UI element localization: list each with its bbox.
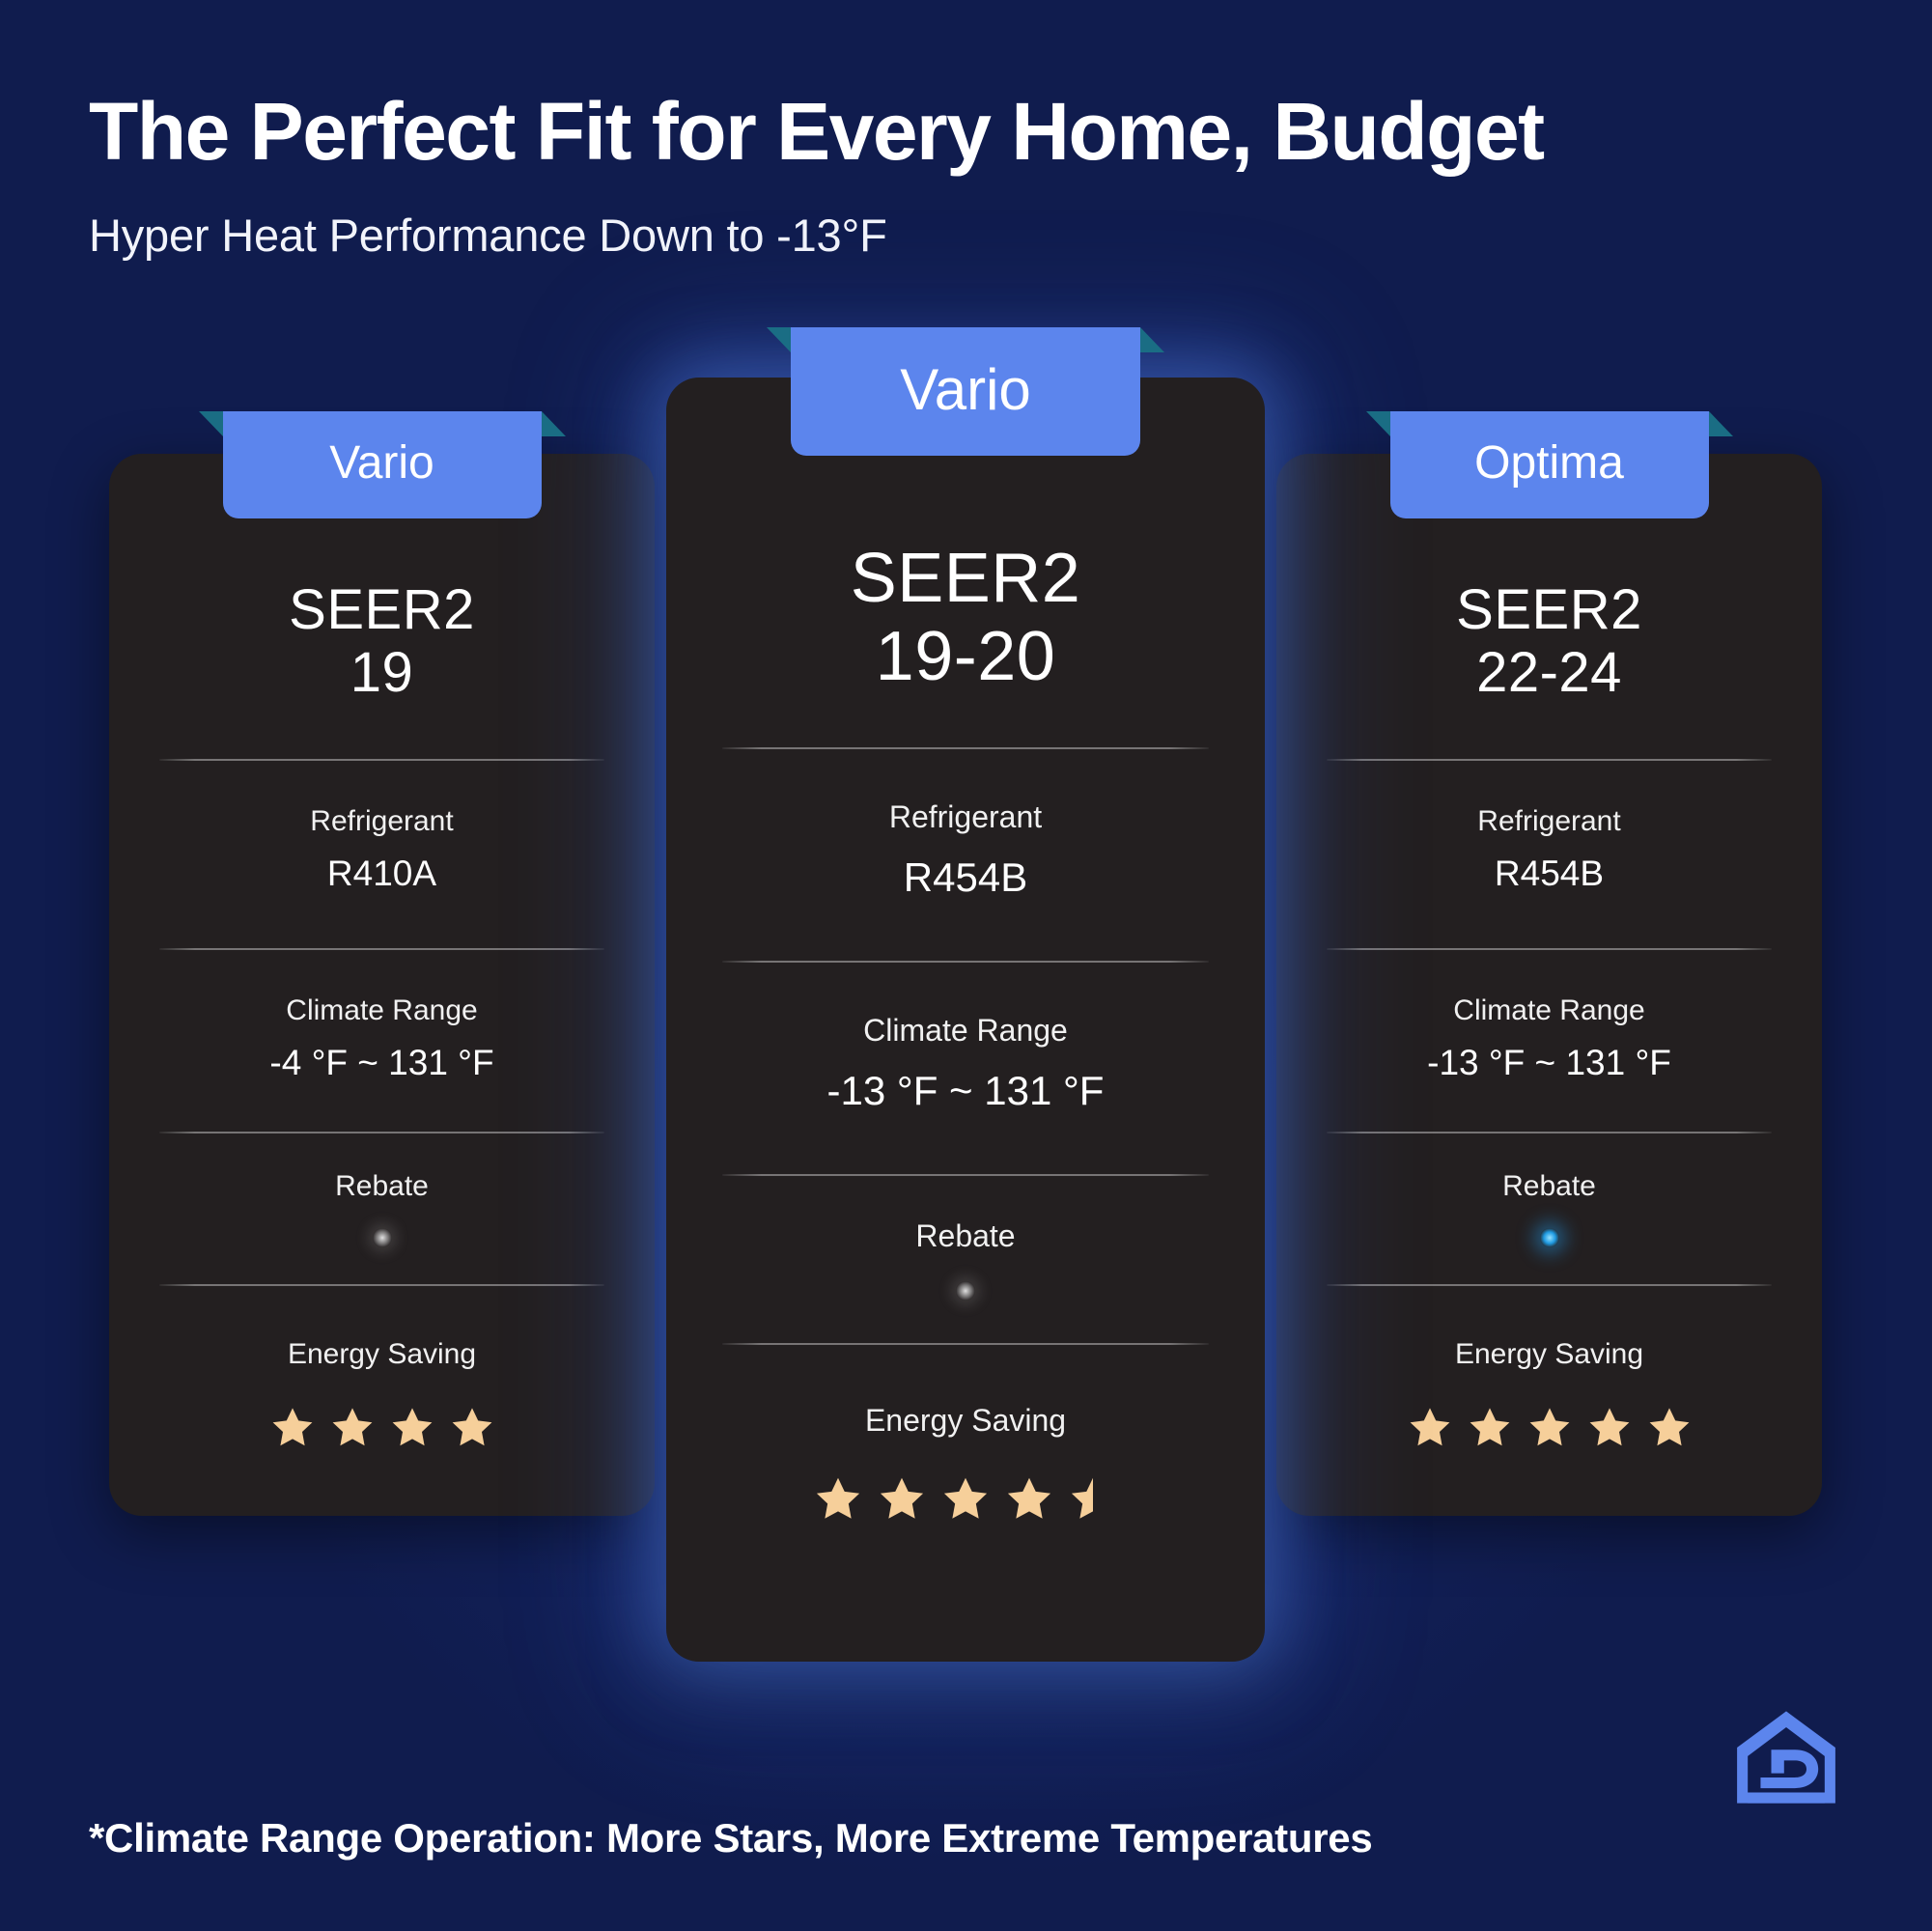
ribbon-text: Vario xyxy=(329,437,434,489)
page-title: The Perfect Fit for Every Home, Budget xyxy=(89,89,1846,174)
spec-label: Rebate xyxy=(159,1170,604,1203)
card-body: SEER2 22-24 Refrigerant R454B Climate Ra… xyxy=(1276,579,1822,1450)
ribbon-text: Vario xyxy=(900,357,1031,422)
star-icon xyxy=(329,1404,376,1450)
card-body: SEER2 19 Refrigerant R410A Climate Range… xyxy=(109,579,655,1450)
star-icon xyxy=(1004,1473,1054,1524)
spec-value: -13 °F ~ 131 °F xyxy=(722,1068,1209,1114)
star-icon xyxy=(877,1473,927,1524)
seer-value: 19-20 xyxy=(851,618,1081,696)
spec-energy-saving: Energy Saving xyxy=(1327,1338,1772,1450)
spec-label: Climate Range xyxy=(1327,994,1772,1027)
spec-value: R454B xyxy=(722,854,1209,901)
star-icon xyxy=(269,1404,316,1450)
page-header: The Perfect Fit for Every Home, Budget H… xyxy=(89,89,1846,262)
card-ribbon-label: Optima xyxy=(1390,411,1709,518)
energy-saving-stars xyxy=(1327,1404,1772,1450)
comparison-cards: Vario SEER2 19 Refrigerant R410A Climate… xyxy=(0,357,1932,1709)
ribbon-fold-right-icon xyxy=(542,411,566,436)
spec-rebate: Rebate xyxy=(722,1218,1209,1301)
spec-label: Refrigerant xyxy=(159,805,604,838)
spec-value: R410A xyxy=(159,854,604,894)
spec-value: -13 °F ~ 131 °F xyxy=(1327,1043,1772,1083)
star-icon xyxy=(449,1404,495,1450)
spec-refrigerant: Refrigerant R454B xyxy=(722,799,1209,901)
star-icon xyxy=(940,1473,991,1524)
star-icon xyxy=(389,1404,435,1450)
divider xyxy=(722,1174,1209,1176)
house-logo-icon xyxy=(1732,1707,1840,1807)
product-card-vario-19[interactable]: Vario SEER2 19 Refrigerant R410A Climate… xyxy=(109,454,655,1516)
star-icon xyxy=(1586,1404,1633,1450)
page-subtitle: Hyper Heat Performance Down to -13°F xyxy=(89,209,1846,262)
seer-heading: SEER2 22-24 xyxy=(1456,579,1642,705)
ribbon-fold-left-icon xyxy=(767,327,791,352)
divider xyxy=(722,747,1209,749)
divider xyxy=(1327,1132,1772,1133)
divider xyxy=(1327,948,1772,950)
spec-label: Energy Saving xyxy=(159,1338,604,1371)
seer-value: 19 xyxy=(289,642,475,705)
spec-energy-saving: Energy Saving xyxy=(722,1403,1209,1524)
seer-value: 22-24 xyxy=(1456,642,1642,705)
spec-rebate: Rebate xyxy=(1327,1170,1772,1247)
ribbon-fold-right-icon xyxy=(1709,411,1733,436)
divider xyxy=(159,1284,604,1286)
spec-climate-range: Climate Range -13 °F ~ 131 °F xyxy=(722,1013,1209,1114)
spec-climate-range: Climate Range -13 °F ~ 131 °F xyxy=(1327,994,1772,1083)
spec-label: Climate Range xyxy=(722,1013,1209,1049)
divider xyxy=(722,1343,1209,1345)
seer-title: SEER2 xyxy=(1456,579,1642,642)
footnote: *Climate Range Operation: More Stars, Mo… xyxy=(89,1815,1372,1861)
spec-refrigerant: Refrigerant R454B xyxy=(1327,805,1772,894)
spec-rebate: Rebate xyxy=(159,1170,604,1247)
spec-label: Energy Saving xyxy=(1327,1338,1772,1371)
star-icon xyxy=(813,1473,863,1524)
spec-label: Rebate xyxy=(1327,1170,1772,1203)
energy-saving-stars xyxy=(159,1404,604,1450)
divider xyxy=(159,1132,604,1133)
divider xyxy=(722,961,1209,963)
half-star-icon xyxy=(1068,1473,1118,1524)
product-card-optima[interactable]: Optima SEER2 22-24 Refrigerant R454B Cli… xyxy=(1276,454,1822,1516)
spec-value: R454B xyxy=(1327,854,1772,894)
spec-label: Refrigerant xyxy=(722,799,1209,835)
divider xyxy=(1327,759,1772,761)
card-ribbon-label: Vario xyxy=(223,411,542,518)
spec-energy-saving: Energy Saving xyxy=(159,1338,604,1450)
divider xyxy=(159,948,604,950)
spec-climate-range: Climate Range -4 °F ~ 131 °F xyxy=(159,994,604,1083)
spec-label: Refrigerant xyxy=(1327,805,1772,838)
seer-heading: SEER2 19 xyxy=(289,579,475,705)
ribbon-fold-left-icon xyxy=(199,411,223,436)
ribbon-fold-left-icon xyxy=(1366,411,1390,436)
divider xyxy=(1327,1284,1772,1286)
star-icon xyxy=(1646,1404,1693,1450)
spec-label: Rebate xyxy=(722,1218,1209,1254)
card-ribbon-label: Vario xyxy=(791,327,1140,456)
energy-saving-stars xyxy=(722,1473,1209,1524)
star-icon xyxy=(1407,1404,1453,1450)
rebate-indicator-dot-icon xyxy=(1540,1228,1559,1247)
star-icon xyxy=(1526,1404,1573,1450)
seer-title: SEER2 xyxy=(851,540,1081,618)
spec-refrigerant: Refrigerant R410A xyxy=(159,805,604,894)
seer-title: SEER2 xyxy=(289,579,475,642)
ribbon-text: Optima xyxy=(1474,437,1624,489)
product-card-vario-19-20-featured[interactable]: Vario SEER2 19-20 Refrigerant R454B Clim… xyxy=(666,378,1265,1662)
card-body: SEER2 19-20 Refrigerant R454B Climate Ra… xyxy=(666,540,1265,1524)
spec-label: Energy Saving xyxy=(722,1403,1209,1439)
rebate-indicator-dot-icon xyxy=(956,1281,975,1301)
divider xyxy=(159,759,604,761)
star-icon xyxy=(1467,1404,1513,1450)
spec-value: -4 °F ~ 131 °F xyxy=(159,1043,604,1083)
rebate-indicator-dot-icon xyxy=(373,1228,392,1247)
spec-label: Climate Range xyxy=(159,994,604,1027)
ribbon-fold-right-icon xyxy=(1140,327,1164,352)
seer-heading: SEER2 19-20 xyxy=(851,540,1081,695)
